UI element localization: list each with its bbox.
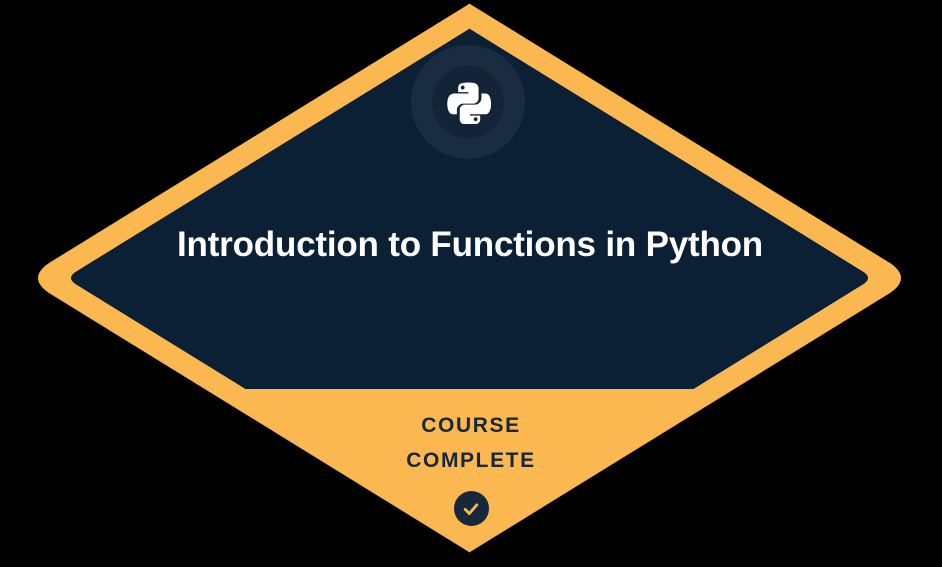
- completion-status: COURSE COMPLETE: [221, 408, 721, 526]
- python-logo-icon: [446, 79, 491, 124]
- status-label-line-1: COURSE: [221, 408, 721, 443]
- status-label-line-2: COMPLETE: [221, 443, 721, 478]
- badge-stage: Introduction to Functions in Python COUR…: [0, 0, 942, 567]
- python-emblem: [411, 45, 525, 159]
- check-circle-icon: [454, 491, 489, 526]
- course-title: Introduction to Functions in Python: [140, 222, 800, 268]
